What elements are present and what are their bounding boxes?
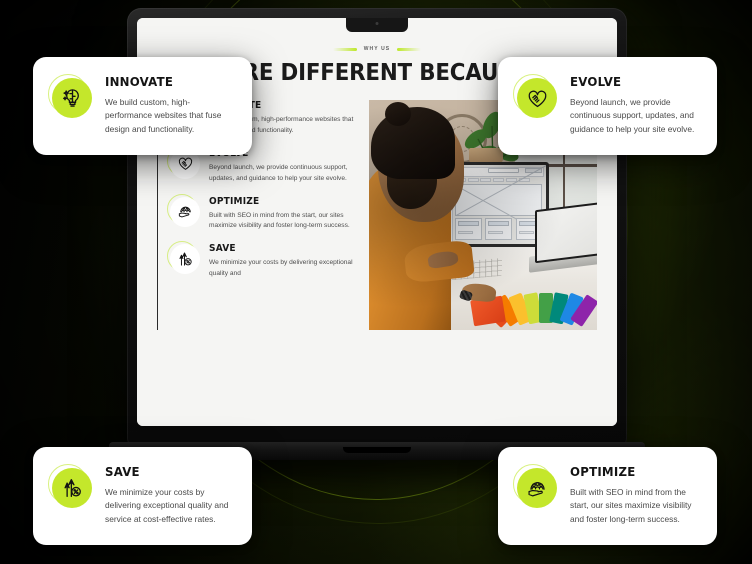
slide-feature-icon-wrap — [170, 244, 200, 274]
audience-hand-icon — [170, 197, 200, 227]
lightbulb-brain-icon — [52, 78, 92, 118]
card-icon-wrap — [517, 78, 557, 118]
card-text: INNOVATE We build custom, high-performan… — [105, 76, 234, 136]
card-title: INNOVATE — [105, 76, 226, 89]
slide-eyebrow: WHY US — [157, 46, 597, 52]
card-description: Beyond launch, we provide continuous sup… — [570, 96, 699, 137]
laptop-base-notch — [343, 447, 411, 453]
presentation-mockup-scene: WHY US WE ARE DIFFERENT BECAUSE WE — [0, 0, 752, 564]
laptop-notch — [346, 18, 408, 32]
feature-card-save[interactable]: SAVE We minimize your costs by deliverin… — [33, 447, 252, 545]
eyebrow-dash-right — [397, 48, 421, 51]
webcam-icon — [376, 22, 379, 25]
arrow-percent-icon — [52, 468, 92, 508]
feature-card-innovate[interactable]: INNOVATE We build custom, high-performan… — [33, 57, 252, 155]
slide-feature-title: SAVE — [209, 243, 348, 254]
audience-hand-icon — [517, 468, 557, 508]
slide-feature-icon-wrap — [170, 197, 200, 227]
card-description: Built with SEO in mind from the start, o… — [570, 486, 699, 527]
card-text: SAVE We minimize your costs by deliverin… — [105, 466, 234, 526]
feature-card-evolve[interactable]: EVOLVE Beyond launch, we provide continu… — [498, 57, 717, 155]
card-description: We minimize your costs by delivering exc… — [105, 486, 234, 527]
slide-feature-title: OPTIMIZE — [209, 196, 348, 207]
slide-feature-optimize[interactable]: OPTIMIZE Built with SEO in mind from the… — [158, 196, 355, 244]
card-title: EVOLVE — [570, 76, 691, 89]
slide-feature-desc: Beyond launch, we provide continuous sup… — [209, 163, 355, 185]
eyebrow-label: WHY US — [364, 46, 391, 52]
card-icon-wrap — [52, 78, 92, 118]
card-icon-wrap — [52, 468, 92, 508]
card-text: EVOLVE Beyond launch, we provide continu… — [570, 76, 699, 136]
handshake-heart-icon — [517, 78, 557, 118]
feature-card-optimize[interactable]: OPTIMIZE Built with SEO in mind from the… — [498, 447, 717, 545]
slide-feature-save[interactable]: SAVE We minimize your costs by deliverin… — [158, 243, 355, 291]
eyebrow-dash-left — [333, 48, 357, 51]
arrow-percent-icon — [170, 244, 200, 274]
slide-feature-text: OPTIMIZE Built with SEO in mind from the… — [209, 196, 355, 233]
slide-feature-desc: We minimize your costs by delivering exc… — [209, 258, 355, 280]
slide-feature-desc: Built with SEO in mind from the start, o… — [209, 211, 355, 233]
card-description: We build custom, high-performance websit… — [105, 96, 234, 137]
card-title: SAVE — [105, 466, 226, 479]
slide-feature-text: SAVE We minimize your costs by deliverin… — [209, 243, 355, 280]
card-title: OPTIMIZE — [570, 466, 691, 479]
card-icon-wrap — [517, 468, 557, 508]
card-text: OPTIMIZE Built with SEO in mind from the… — [570, 466, 699, 526]
